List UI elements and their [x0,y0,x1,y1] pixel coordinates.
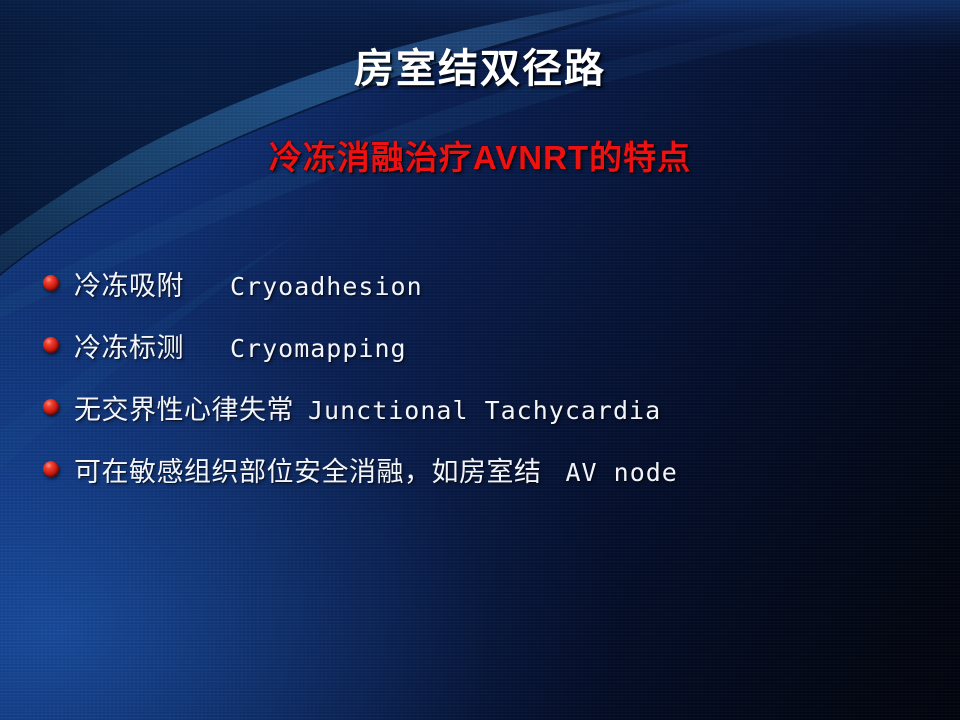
bullet-list: 冷冻吸附Cryoadhesion 冷冻标测Cryomapping 无交界性心律失… [40,252,940,500]
red-sphere-bullet-icon [43,461,59,477]
bullet-text-en: AV node [566,458,678,487]
bullet-text: 冷冻吸附Cryoadhesion [74,264,423,303]
bullet-text: 冷冻标测Cryomapping [74,326,407,365]
list-item: 可在敏感组织部位安全消融，如房室结AV node [40,438,940,500]
list-item: 冷冻标测Cryomapping [40,314,940,376]
bullet-text-en: Cryomapping [230,334,407,363]
slide-content: 房室结双径路 冷冻消融治疗AVNRT的特点 冷冻吸附Cryoadhesion 冷… [0,0,960,720]
red-sphere-bullet-icon [43,275,59,291]
bullet-text: 无交界性心律失常Junctional Tachycardia [74,388,661,427]
list-item: 无交界性心律失常Junctional Tachycardia [40,376,940,438]
presentation-slide: 房室结双径路 冷冻消融治疗AVNRT的特点 冷冻吸附Cryoadhesion 冷… [0,0,960,720]
red-sphere-bullet-icon [43,399,59,415]
red-sphere-bullet-icon [43,337,59,353]
bullet-text-en: Cryoadhesion [230,272,423,301]
bullet-text-cn: 可在敏感组织部位安全消融，如房室结 [74,457,542,487]
bullet-text-cn: 冷冻吸附 [74,271,184,301]
bullet-text: 可在敏感组织部位安全消融，如房室结AV node [74,450,678,489]
list-item: 冷冻吸附Cryoadhesion [40,252,940,314]
bullet-text-cn: 无交界性心律失常 [74,395,294,425]
bullet-text-en: Junctional Tachycardia [308,396,661,425]
bullet-text-cn: 冷冻标测 [74,333,184,363]
slide-subtitle: 冷冻消融治疗AVNRT的特点 [0,131,960,179]
slide-title: 房室结双径路 [0,36,960,94]
